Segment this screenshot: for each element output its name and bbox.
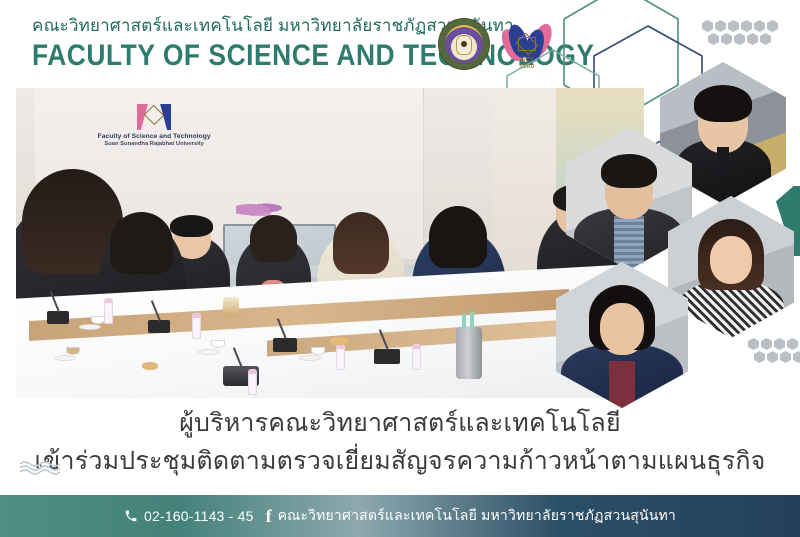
caption-line-2: เข้าร่วมประชุมติดตามตรวจเยี่ยมสัญจรความก… [0, 446, 800, 476]
hexagon-dot-cluster-top [702, 20, 778, 45]
poster-root: คณะวิทยาศาสตร์และเทคโนโลยี มหาวิทยาลัยรา… [0, 0, 800, 537]
ssru-university-seal-icon [438, 18, 490, 70]
wall-sign: Faculty of Science and Technology Suan S… [54, 104, 255, 148]
caption-block: ผู้บริหารคณะวิทยาศาสตร์และเทคโนโลยี เข้า… [0, 402, 800, 495]
wall-sign-emblem-icon [137, 104, 171, 130]
meeting-room-photo: Faculty of Science and Technology Suan S… [16, 88, 644, 398]
wall-sign-line2: Suan Sunandha Rajabhat University [54, 141, 255, 148]
footer-facebook-page: คณะวิทยาศาสตร์และเทคโนโลยี มหาวิทยาลัยรา… [278, 505, 676, 527]
hexagon-dot-cluster-bottom [748, 338, 800, 363]
wave-decoration-icon [18, 460, 62, 476]
facebook-icon: f [266, 509, 272, 523]
phone-icon [124, 509, 138, 523]
footer-facebook[interactable]: f คณะวิทยาศาสตร์และเทคโนโลยี มหาวิทยาลัย… [266, 505, 676, 527]
footer-contact-bar: 02-160-1143 - 45 f คณะวิทยาศาสตร์และเทคโ… [0, 495, 800, 537]
wall-sign-line1: Faculty of Science and Technology [54, 133, 255, 141]
caption-line-1: ผู้บริหารคณะวิทยาศาสตร์และเทคโนโลยี [0, 408, 800, 438]
footer-phone[interactable]: 02-160-1143 - 45 [124, 508, 254, 524]
footer-phone-number: 02-160-1143 - 45 [144, 508, 254, 524]
